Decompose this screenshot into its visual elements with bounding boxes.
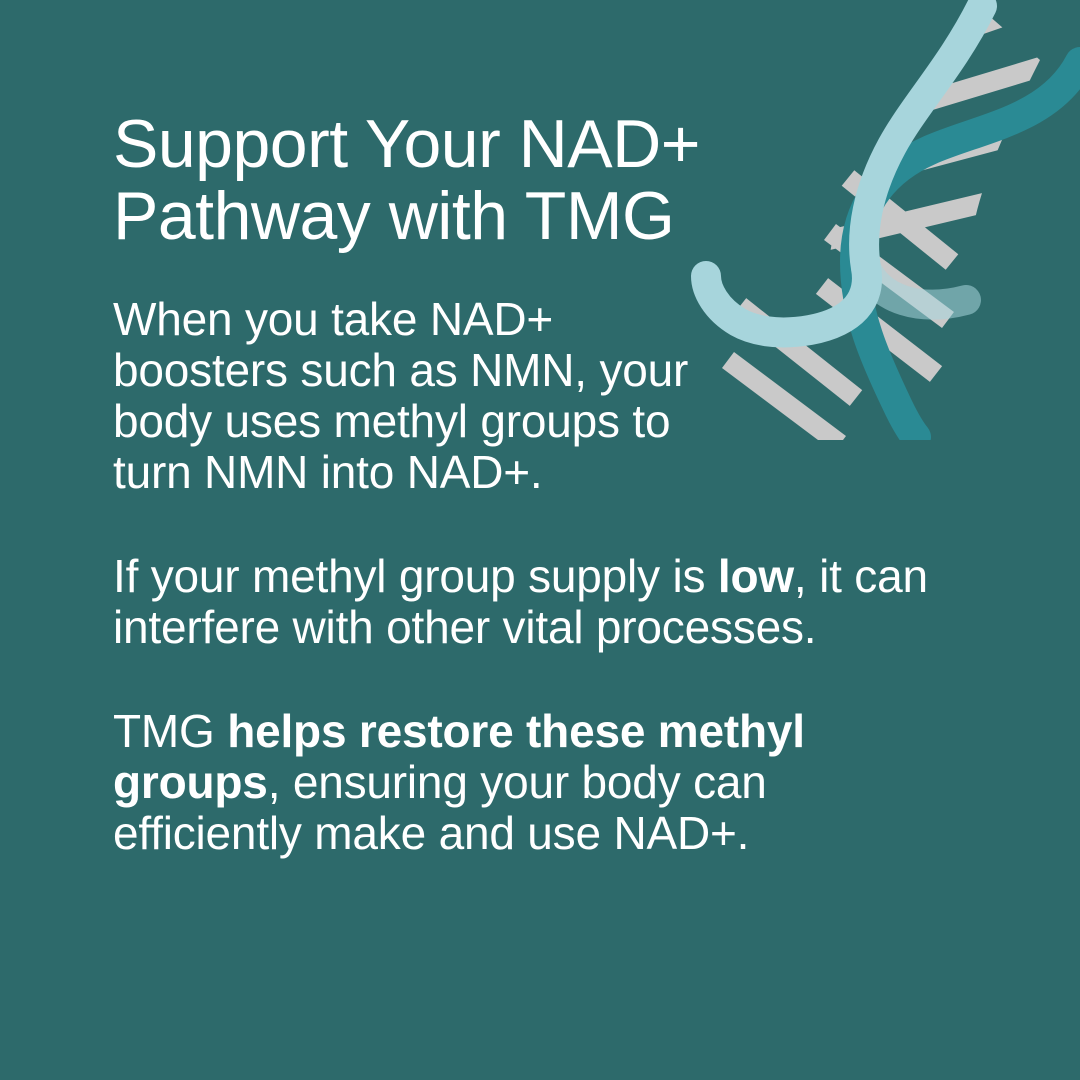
paragraph-solution-part-1: TMG — [113, 705, 227, 757]
paragraph-solution: TMG helps restore these methyl groups, e… — [113, 706, 913, 859]
page-title-line-1: Support Your NAD+ — [113, 108, 813, 180]
paragraph-intro: When you take NAD+ boosters such as NMN,… — [113, 294, 693, 498]
page-title: Support Your NAD+ Pathway with TMG — [113, 108, 813, 252]
paragraph-intro-text: When you take NAD+ boosters such as NMN,… — [113, 293, 688, 498]
paragraph-warning: If your methyl group supply is low, it c… — [113, 551, 943, 653]
promo-graphic-canvas: Support Your NAD+ Pathway with TMG When … — [0, 0, 1080, 1080]
page-title-line-2: Pathway with TMG — [113, 180, 813, 252]
paragraph-warning-emphasis: low — [718, 550, 794, 602]
text-column: Support Your NAD+ Pathway with TMG When … — [113, 108, 973, 859]
paragraph-warning-part-1: If your methyl group supply is — [113, 550, 718, 602]
